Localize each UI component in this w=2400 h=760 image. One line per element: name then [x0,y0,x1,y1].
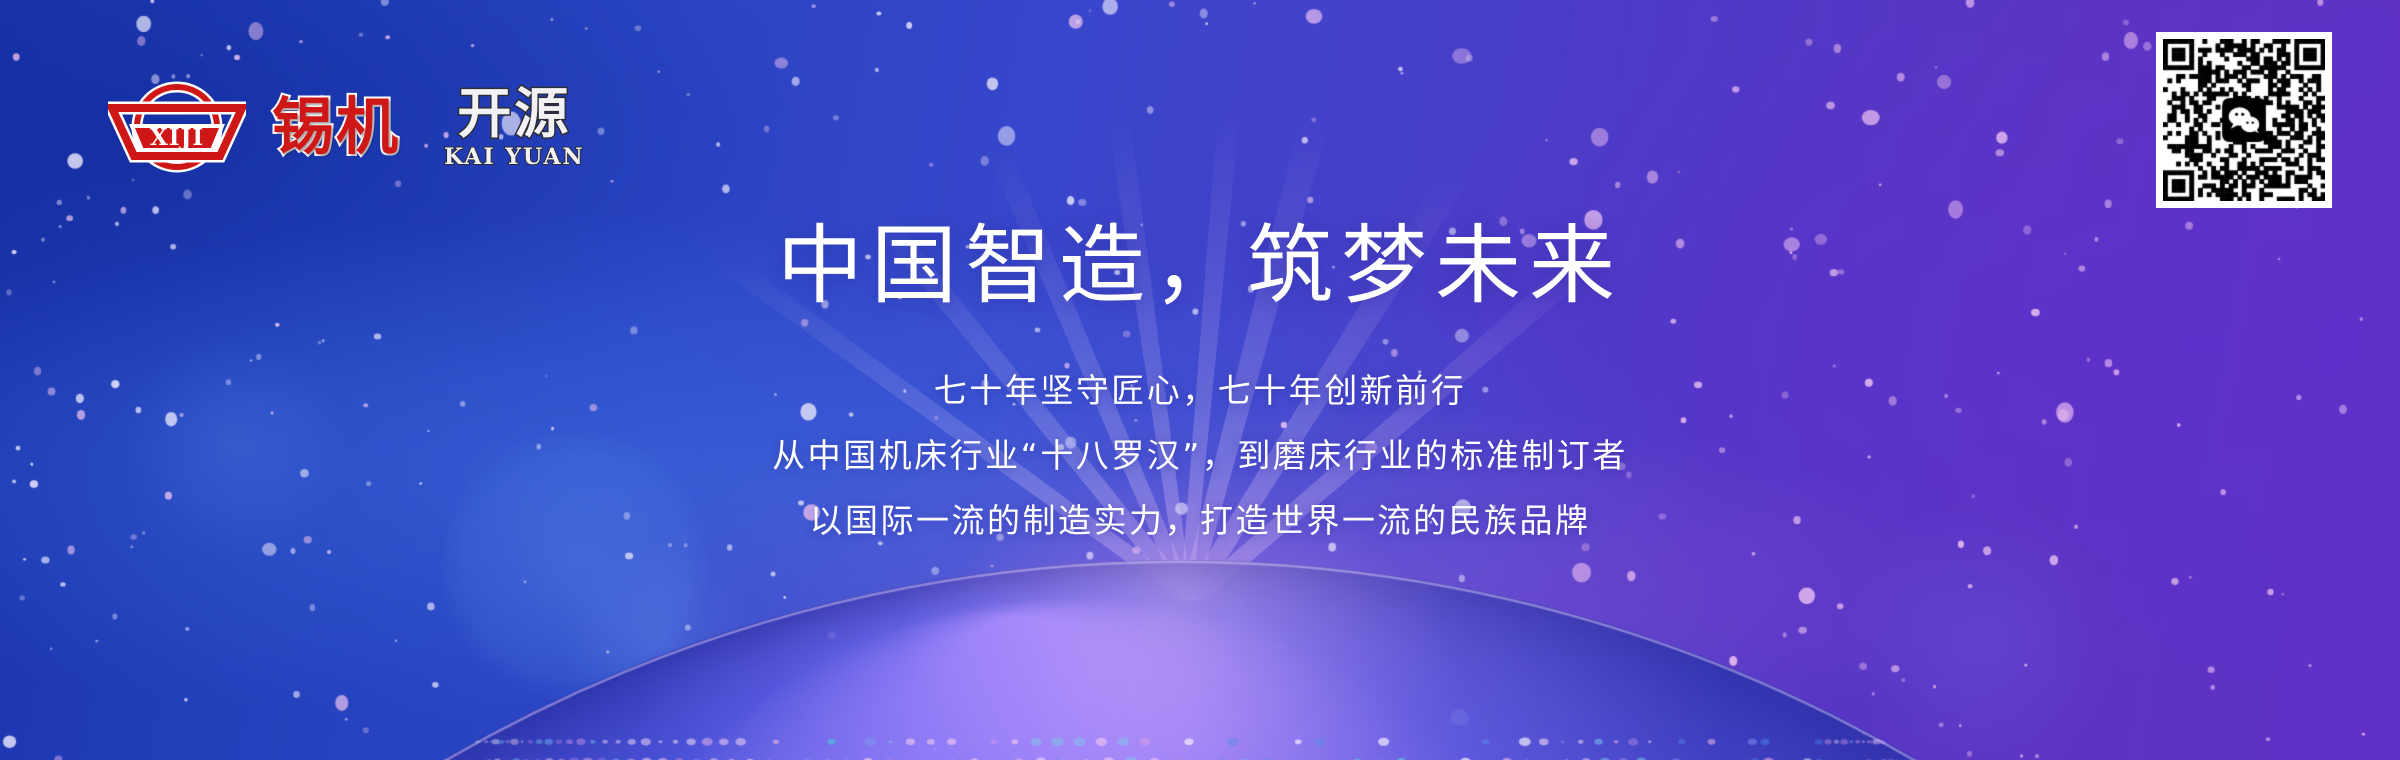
sub-brand-cn: 开源 [444,87,585,141]
brand-logo[interactable]: XIJI 锡机 开源 KAI YUAN [108,78,585,176]
sub-brand-logo: 开源 KAI YUAN [444,87,585,168]
sub-brand-en: KAI YUAN [444,146,585,168]
wechat-qr-code[interactable] [2156,32,2332,208]
xiji-emblem-icon: XIJI [108,78,246,176]
promo-banner: XIJI 锡机 开源 KAI YUAN 中国智造，筑梦未来 七十年坚守匠心，七十… [0,0,2400,760]
svg-text:XIJI: XIJI [150,124,204,151]
brand-name-cn: 锡机 [272,96,400,158]
